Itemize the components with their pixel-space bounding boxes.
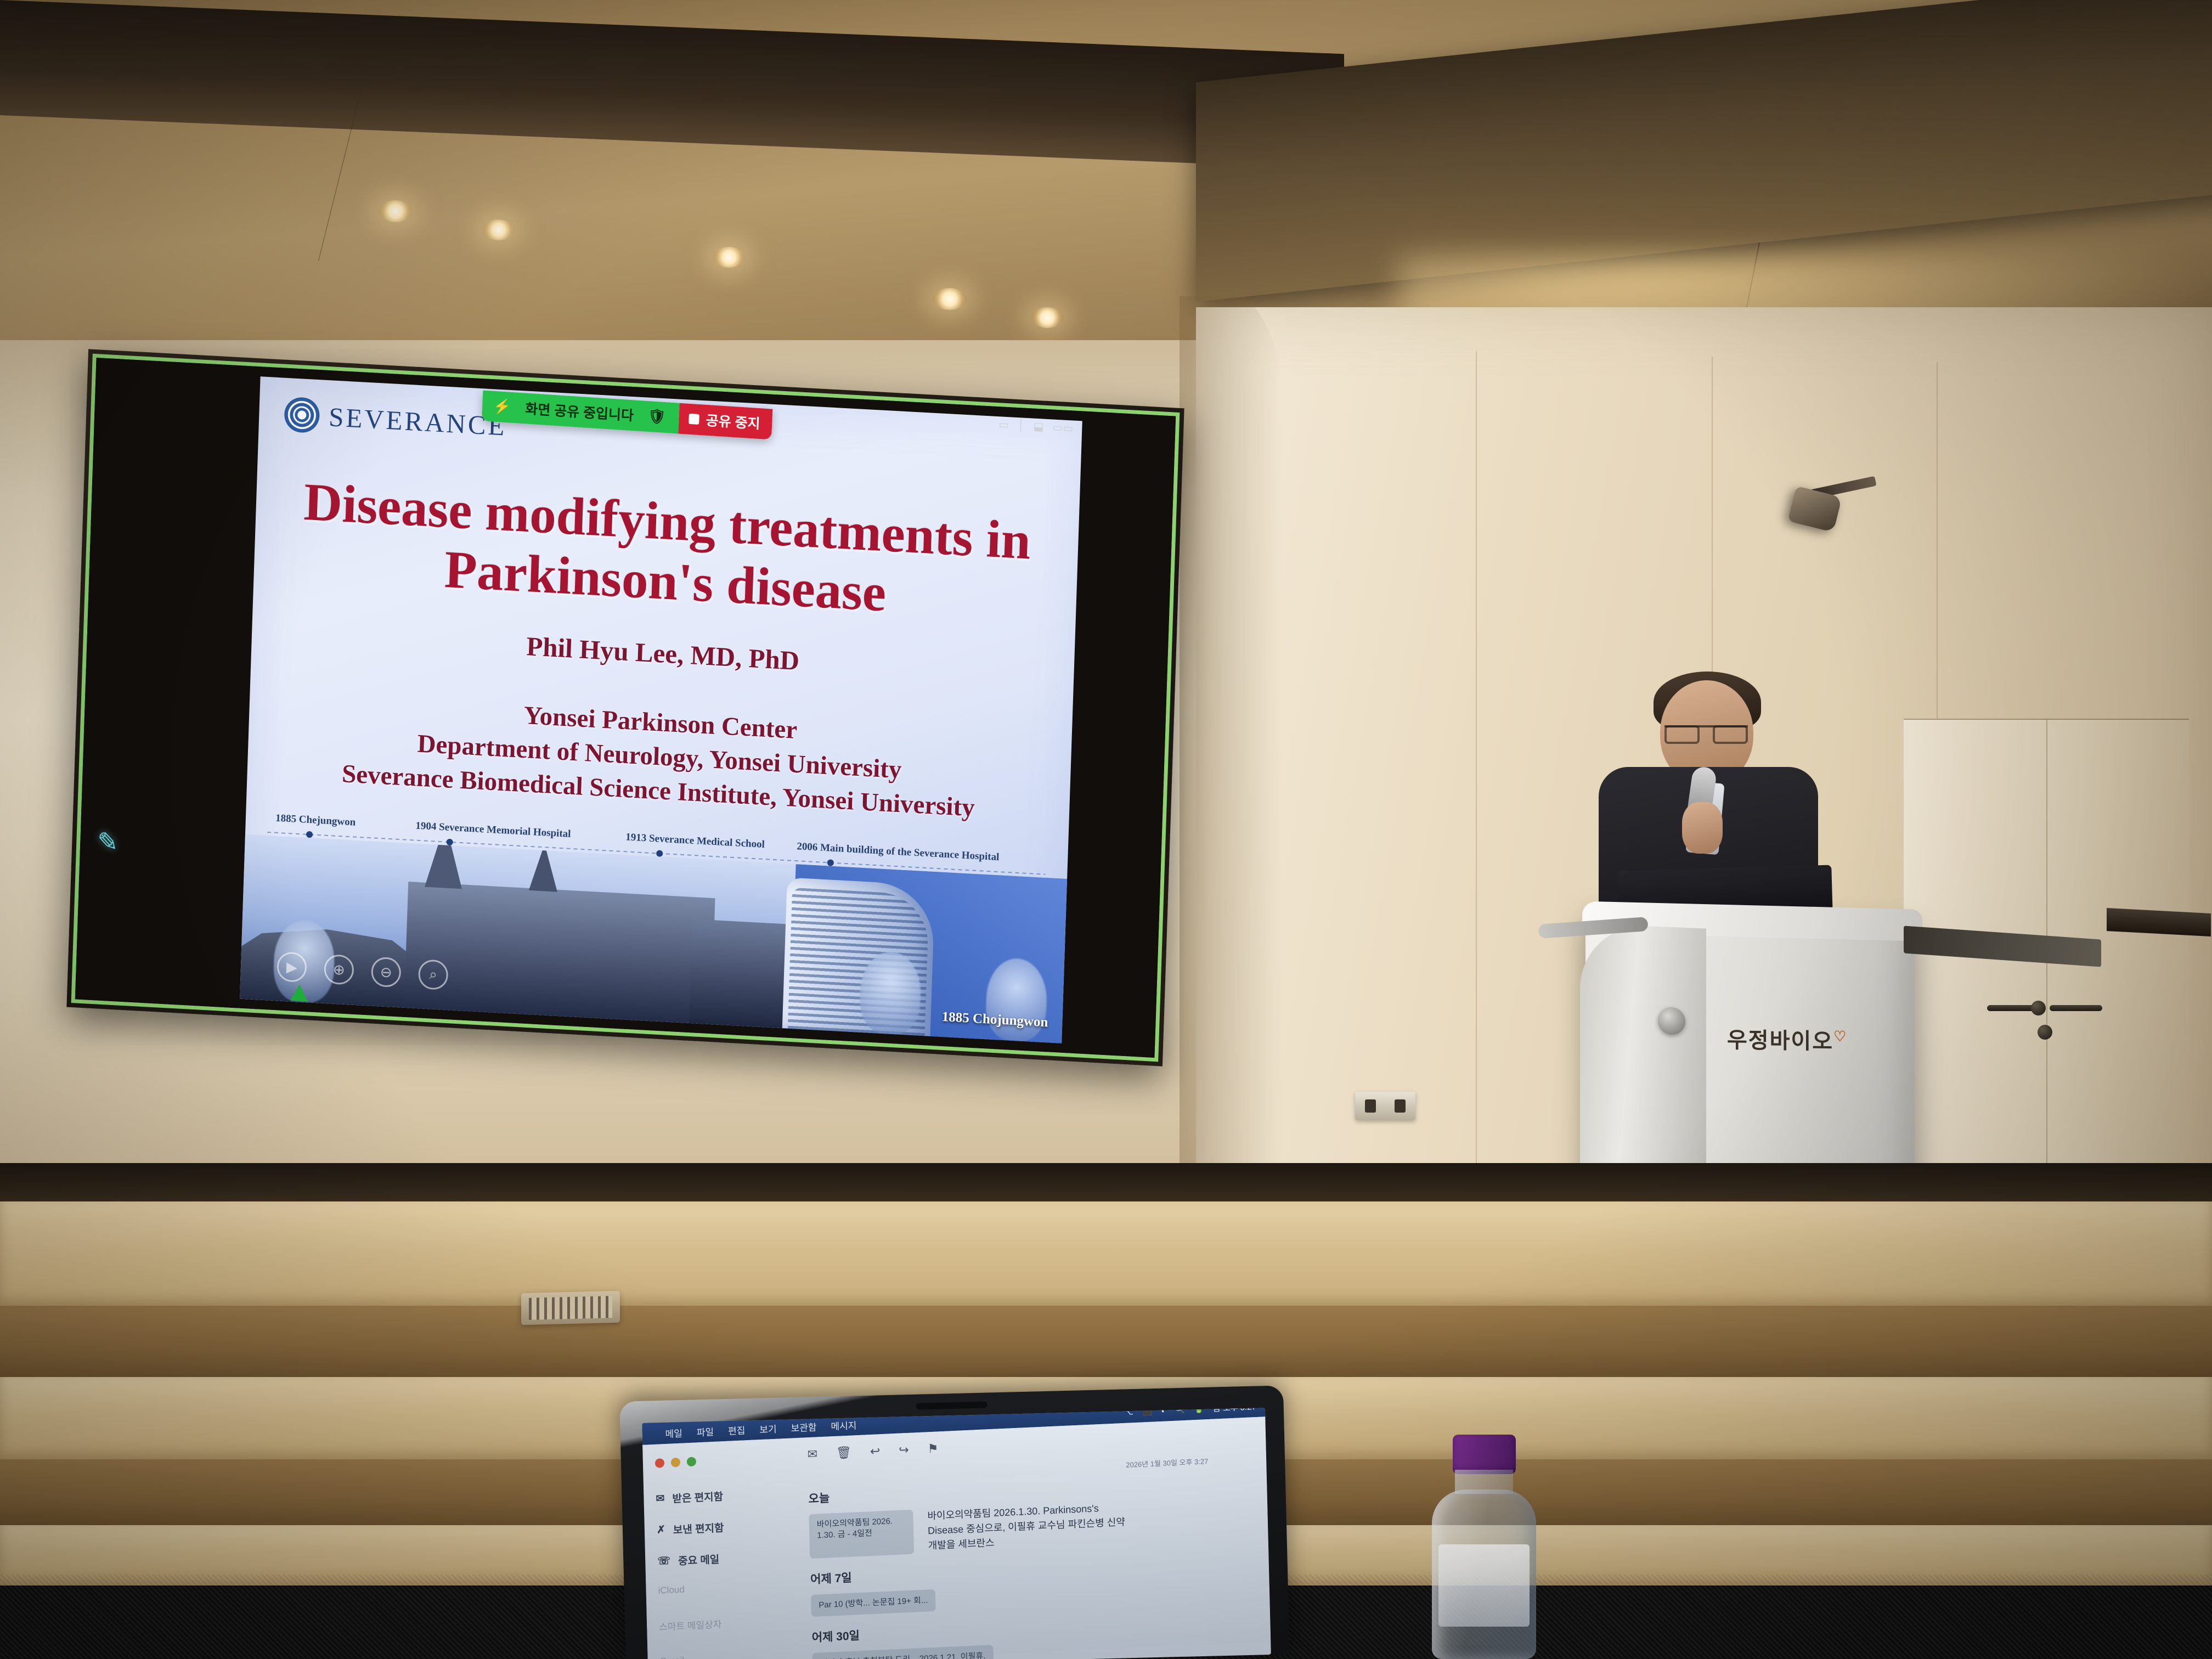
lecture-hall-scene: ✎ SEVERANCE ⚡ 화면 공유 중입니다 🛡 xyxy=(0,0,2212,1659)
flag-icon: ☏ xyxy=(657,1555,670,1568)
stage-tread xyxy=(0,1201,2212,1306)
severance-logo: SEVERANCE xyxy=(284,397,507,444)
clock-label[interactable]: 금 오후 3:27 xyxy=(1213,1408,1256,1414)
severance-emblem-icon xyxy=(284,397,320,433)
flag-icon[interactable]: ⚑ xyxy=(927,1441,938,1456)
slide-author: Phil Hyu Lee, MD, PhD xyxy=(251,616,1074,691)
floor-outlet xyxy=(521,1291,620,1325)
podium-brand-label: 우정바이오♡ xyxy=(1727,1022,1847,1056)
shield-icon: 🛡 xyxy=(647,407,666,425)
timeline-label: 2006 Main building of the Severance Hosp… xyxy=(797,840,1000,864)
message-timestamp: 2026년 1월 30일 오후 3:27 xyxy=(1126,1453,1252,1469)
downlight xyxy=(483,219,515,240)
window-tool-icon[interactable]: ▭▭ xyxy=(1052,420,1074,435)
menubar-item[interactable]: 보기 xyxy=(759,1421,777,1435)
maximize-icon[interactable] xyxy=(687,1457,696,1466)
sidebar-item-inbox[interactable]: ✉ 받은 편지함 xyxy=(656,1485,793,1506)
sidebar-group-label[interactable]: 스마트 메일상자 xyxy=(659,1613,796,1633)
mail-message-list[interactable]: 오늘 바이오의약품팀 2026. 1.30. 금 - 4일전 바이오의약품팀 2… xyxy=(808,1464,1129,1659)
stop-square-icon xyxy=(689,413,699,424)
downlight xyxy=(1031,307,1063,328)
timeline-node xyxy=(656,850,663,857)
sidebar-item-sent[interactable]: ✗ 보낸 편지함 xyxy=(657,1516,794,1537)
door-handle[interactable] xyxy=(2050,1005,2102,1011)
inbox-icon: ✉ xyxy=(656,1492,664,1505)
foreground-laptop[interactable]: 메일 파일 편집 보기 보관함 메시지 ⌥ ⬛ ◐ 🔍 🔋 금 오후 3:27 xyxy=(619,1385,1290,1659)
window-traffic-lights[interactable] xyxy=(655,1457,696,1468)
water-bottle xyxy=(1426,1435,1542,1659)
menubar-item[interactable]: 편집 xyxy=(728,1423,746,1437)
photo-main-building xyxy=(404,882,715,1024)
window-tool-icon[interactable]: ▭ xyxy=(998,417,1009,432)
timeline-node xyxy=(827,859,834,866)
mail-sidebar[interactable]: ✉ 받은 편지함 ✗ 보낸 편지함 ☏ 중요 메일 iCloud 스마트 메일상… xyxy=(656,1485,798,1659)
sidebar-item-label: 받은 편지함 xyxy=(672,1488,723,1505)
stage-riser xyxy=(0,1306,2212,1377)
downlight xyxy=(933,288,967,310)
sent-icon: ✗ xyxy=(657,1523,665,1537)
pen-annotation-icon[interactable]: ✎ xyxy=(92,826,123,858)
podium-brand-text: 우정바이오 xyxy=(1727,1028,1833,1054)
list-item[interactable]: Par 10 (방학... 논문집 19+ 회... xyxy=(811,1581,1127,1617)
timeline-label: 1885 Chejungwon xyxy=(275,812,356,829)
green-pointer-cursor xyxy=(290,984,308,1002)
door-split-line xyxy=(2046,720,2047,1229)
search-icon[interactable]: ⌕ xyxy=(418,959,449,990)
menubar-item[interactable]: 파일 xyxy=(697,1424,714,1438)
bottle-cap xyxy=(1453,1435,1516,1474)
reply-icon[interactable]: ↩ xyxy=(870,1444,881,1459)
trash-icon[interactable]: 🗑 xyxy=(836,1446,852,1460)
window-tool-icon[interactable]: ⬓ xyxy=(1033,420,1044,434)
stop-share-button[interactable]: 공유 중지 xyxy=(679,403,773,440)
minimize-icon[interactable] xyxy=(671,1458,680,1468)
severance-wordmark: SEVERANCE xyxy=(328,401,507,442)
slide-affiliations: Yonsei Parkinson Center Department of Ne… xyxy=(247,684,1072,830)
screen-green-border: ✎ SEVERANCE ⚡ 화면 공유 중입니다 🛡 xyxy=(71,354,1180,1062)
slide-title: Disease modifying treatments in Parkinso… xyxy=(253,470,1079,633)
menubar-item[interactable]: 보관함 xyxy=(791,1419,816,1434)
timeline-node xyxy=(306,831,313,838)
speaker-hand xyxy=(1682,802,1723,854)
zoom-in-icon[interactable]: ⊕ xyxy=(324,954,354,985)
mail-toolbar[interactable]: ✉ 🗑 ↩ ↪ ⚑ xyxy=(807,1441,938,1462)
message-sender-chip: Par 10 (방학... 논문집 19+ 회... xyxy=(811,1589,936,1617)
sidebar-group-label[interactable]: iCloud xyxy=(658,1579,795,1596)
compose-icon[interactable]: ✉ xyxy=(807,1447,817,1462)
screen-surface: ✎ SEVERANCE ⚡ 화면 공유 중입니다 🛡 xyxy=(75,358,1176,1058)
projection-screen: ✎ SEVERANCE ⚡ 화면 공유 중입니다 🛡 xyxy=(66,349,1184,1066)
stop-share-label: 공유 중지 xyxy=(706,410,760,433)
wall-seam xyxy=(1476,351,1477,1229)
message-subject: 바이오의약품팀 2026.1.30. Parkinsons's Disease … xyxy=(927,1500,1126,1553)
timeline-label: 1913 Severance Medical School xyxy=(625,831,765,851)
timeline-label: 1904 Severance Memorial Hospital xyxy=(415,820,571,840)
mail-app-window[interactable]: ✉ 🗑 ↩ ↪ ⚑ ✉ 받은 편지함 ✗ 보낸 편지함 xyxy=(642,1417,1271,1659)
sidebar-group-label[interactable]: Gmail xyxy=(660,1650,797,1659)
bolt-icon: ⚡ xyxy=(493,397,511,415)
sidebar-item-important[interactable]: ☏ 중요 메일 xyxy=(657,1548,794,1568)
screen-share-banner: ⚡ 화면 공유 중입니다 🛡 공유 중지 xyxy=(482,390,773,439)
menubar-item[interactable]: 메시지 xyxy=(831,1418,856,1432)
zoom-out-icon[interactable]: ⊖ xyxy=(371,957,402,988)
bottle-label xyxy=(1438,1544,1530,1627)
downlight xyxy=(713,247,745,268)
sidebar-item-label: 중요 메일 xyxy=(678,1551,720,1568)
forward-icon[interactable]: ↪ xyxy=(899,1443,909,1458)
sidebar-item-label: 보낸 편지함 xyxy=(673,1520,724,1537)
ceiling-dark-band xyxy=(0,0,1344,169)
glasses-icon xyxy=(1664,725,1748,740)
presentation-slide: SEVERANCE ⚡ 화면 공유 중입니다 🛡 공유 중지 xyxy=(240,376,1082,1043)
close-icon[interactable] xyxy=(655,1458,664,1468)
window-tool-icons[interactable]: ▭ │ ⬓ ▭▭ xyxy=(998,417,1074,435)
sharing-status-pill: ⚡ 화면 공유 중입니다 🛡 xyxy=(482,390,680,433)
heart-leaf-icon: ♡ xyxy=(1833,1028,1847,1045)
timeline-node xyxy=(446,839,453,846)
downlight xyxy=(379,200,413,222)
stage-edge-trim xyxy=(0,1163,2212,1201)
window-tool-icon[interactable]: │ xyxy=(1018,419,1025,432)
sharing-status-label: 화면 공유 중입니다 xyxy=(525,398,634,425)
menubar-item[interactable]: 메일 xyxy=(665,1425,682,1440)
play-icon[interactable]: ▶ xyxy=(276,951,307,983)
wall-outlet xyxy=(1355,1092,1415,1120)
laptop-screen[interactable]: 메일 파일 편집 보기 보관함 메시지 ⌥ ⬛ ◐ 🔍 🔋 금 오후 3:27 xyxy=(642,1408,1271,1659)
list-item[interactable]: 바이오의약품팀 2026. 1.30. 금 - 4일전 바이오의약품팀 2026… xyxy=(809,1500,1126,1559)
message-sender-chip: 세미나 후보 추천부탁 드리... 2026.1.21. 이필휴. xyxy=(812,1645,994,1659)
message-sender-chip: 바이오의약품팀 2026. 1.30. 금 - 4일전 xyxy=(809,1510,914,1559)
